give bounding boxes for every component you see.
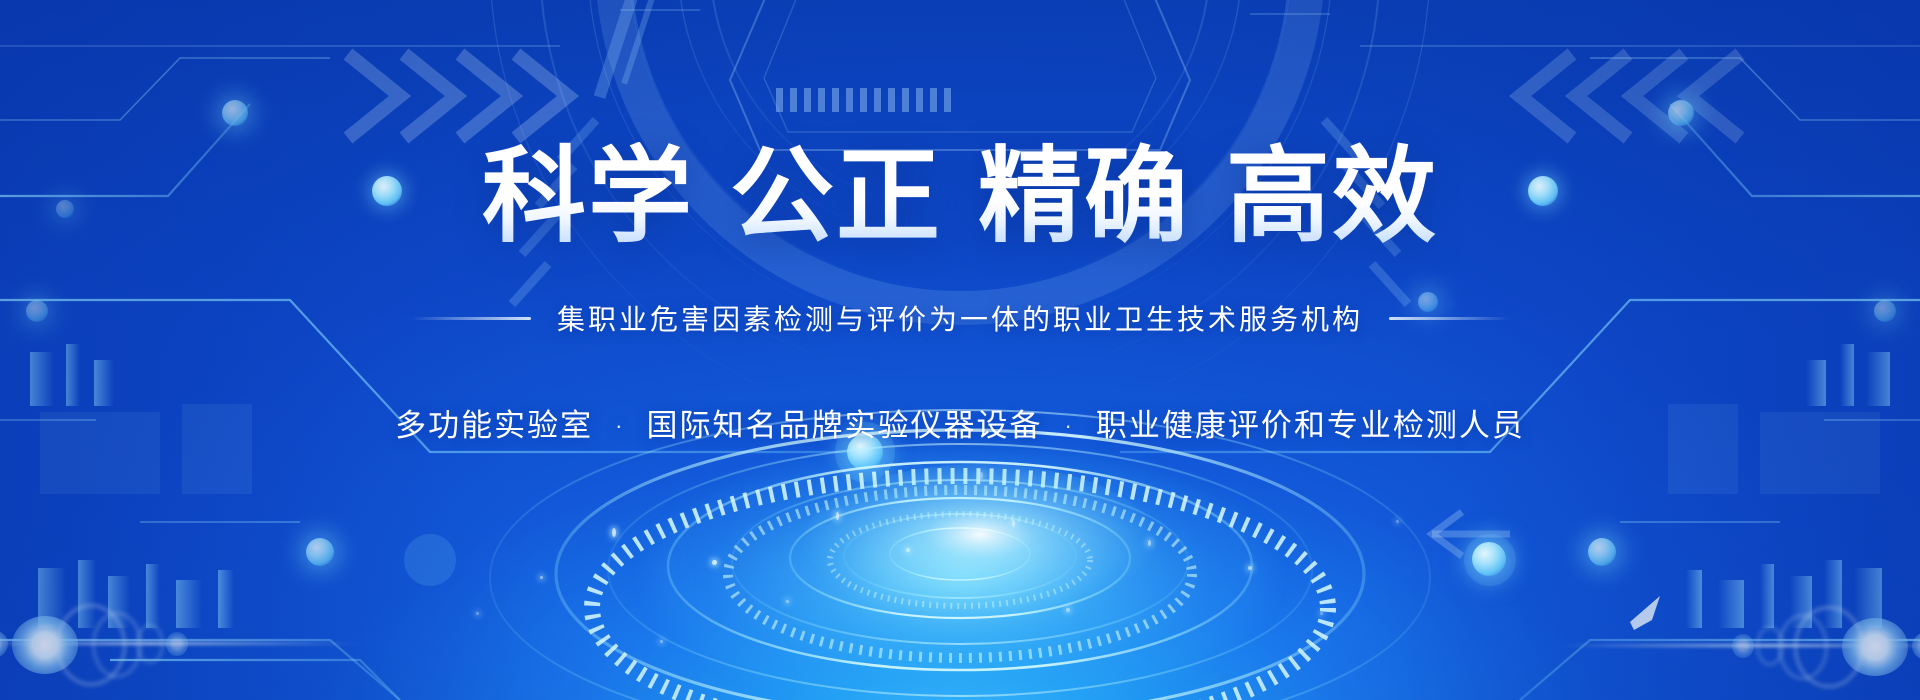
tagline-item-3: 职业健康评价和专业检测人员 — [1096, 408, 1525, 443]
tech-banner: 科学公正精确高效 集职业危害因素检测与评价为一体的职业卫生技术服务机构 多功能实… — [0, 0, 1920, 700]
headline-word-1: 科学 — [482, 139, 694, 255]
headline-word-4: 高效 — [1226, 139, 1438, 255]
page-title: 科学公正精确高效 — [482, 142, 1438, 252]
headline-word-2: 公正 — [730, 139, 942, 255]
tagline-item-1: 多功能实验室 — [395, 408, 593, 443]
tagline-item-2: 国际知名品牌实验仪器设备 — [647, 408, 1043, 443]
tagline-separator-icon: · — [1065, 413, 1074, 439]
divider-line-right — [1389, 317, 1509, 320]
subtitle-text: 集职业危害因素检测与评价为一体的职业卫生技术服务机构 — [557, 298, 1363, 338]
divider-line-left — [411, 317, 531, 320]
banner-content: 科学公正精确高效 集职业危害因素检测与评价为一体的职业卫生技术服务机构 多功能实… — [0, 0, 1920, 700]
subtitle-row: 集职业危害因素检测与评价为一体的职业卫生技术服务机构 — [411, 298, 1509, 338]
tagline-separator-icon: · — [615, 413, 624, 439]
tagline-row: 多功能实验室·国际知名品牌实验仪器设备·职业健康评价和专业检测人员 — [395, 400, 1525, 445]
headline-word-3: 精确 — [978, 139, 1190, 255]
